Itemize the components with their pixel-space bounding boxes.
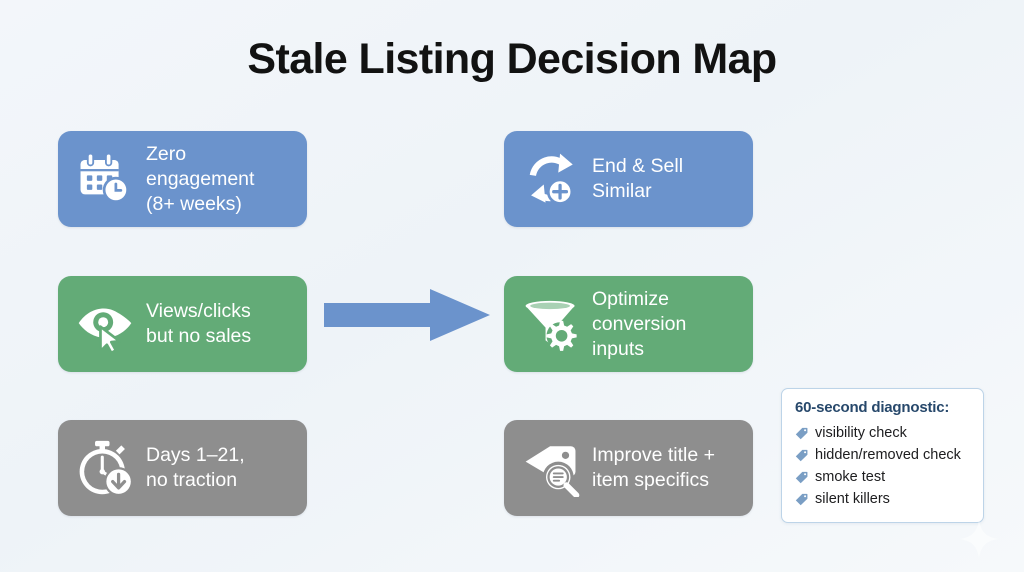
action-label: Improve title + item specifics [592, 443, 715, 493]
eye-cursor-icon [74, 293, 136, 355]
decision-row-2: Views/clicks but no sales [0, 276, 1024, 372]
action-label: End & Sell Similar [592, 154, 683, 204]
slide-canvas: Stale Listing Decision Map [0, 0, 1024, 572]
page-title: Stale Listing Decision Map [0, 36, 1024, 83]
list-item: smoke test [795, 467, 971, 488]
decision-row-1: Zero engagement (8+ weeks) End & Sell Si… [0, 131, 1024, 227]
callout-list: visibility check hidden/removed check sm… [795, 423, 971, 510]
tag-search-icon [520, 437, 582, 499]
tag-bullet-icon [795, 427, 808, 440]
tag-bullet-icon [795, 493, 808, 506]
list-item-label: smoke test [815, 467, 885, 488]
tag-bullet-icon [795, 449, 808, 462]
trigger-card-zero-engagement[interactable]: Zero engagement (8+ weeks) [58, 131, 307, 227]
diagnostic-callout: 60-second diagnostic: visibility check h… [781, 388, 984, 523]
list-item: silent killers [795, 489, 971, 510]
list-item-label: silent killers [815, 489, 890, 510]
list-item-label: hidden/removed check [815, 445, 961, 466]
calendar-clock-icon [74, 148, 136, 210]
callout-heading: 60-second diagnostic: [795, 399, 971, 416]
list-item-label: visibility check [815, 423, 907, 444]
action-label: Optimize conversion inputs [592, 287, 686, 362]
trigger-card-views-no-sales[interactable]: Views/clicks but no sales [58, 276, 307, 372]
action-card-end-sell-similar[interactable]: End & Sell Similar [504, 131, 753, 227]
tag-bullet-icon [795, 471, 808, 484]
list-item: hidden/removed check [795, 445, 971, 466]
stopwatch-down-icon [74, 437, 136, 499]
trigger-card-days-no-traction[interactable]: Days 1–21, no traction [58, 420, 307, 516]
trigger-label: Zero engagement (8+ weeks) [146, 142, 254, 217]
trigger-label: Views/clicks but no sales [146, 299, 251, 349]
funnel-gear-icon [520, 293, 582, 355]
action-card-improve-title[interactable]: Improve title + item specifics [504, 420, 753, 516]
trigger-label: Days 1–21, no traction [146, 443, 245, 493]
sell-similar-icon [520, 148, 582, 210]
action-card-optimize-conversion[interactable]: Optimize conversion inputs [504, 276, 753, 372]
list-item: visibility check [795, 423, 971, 444]
